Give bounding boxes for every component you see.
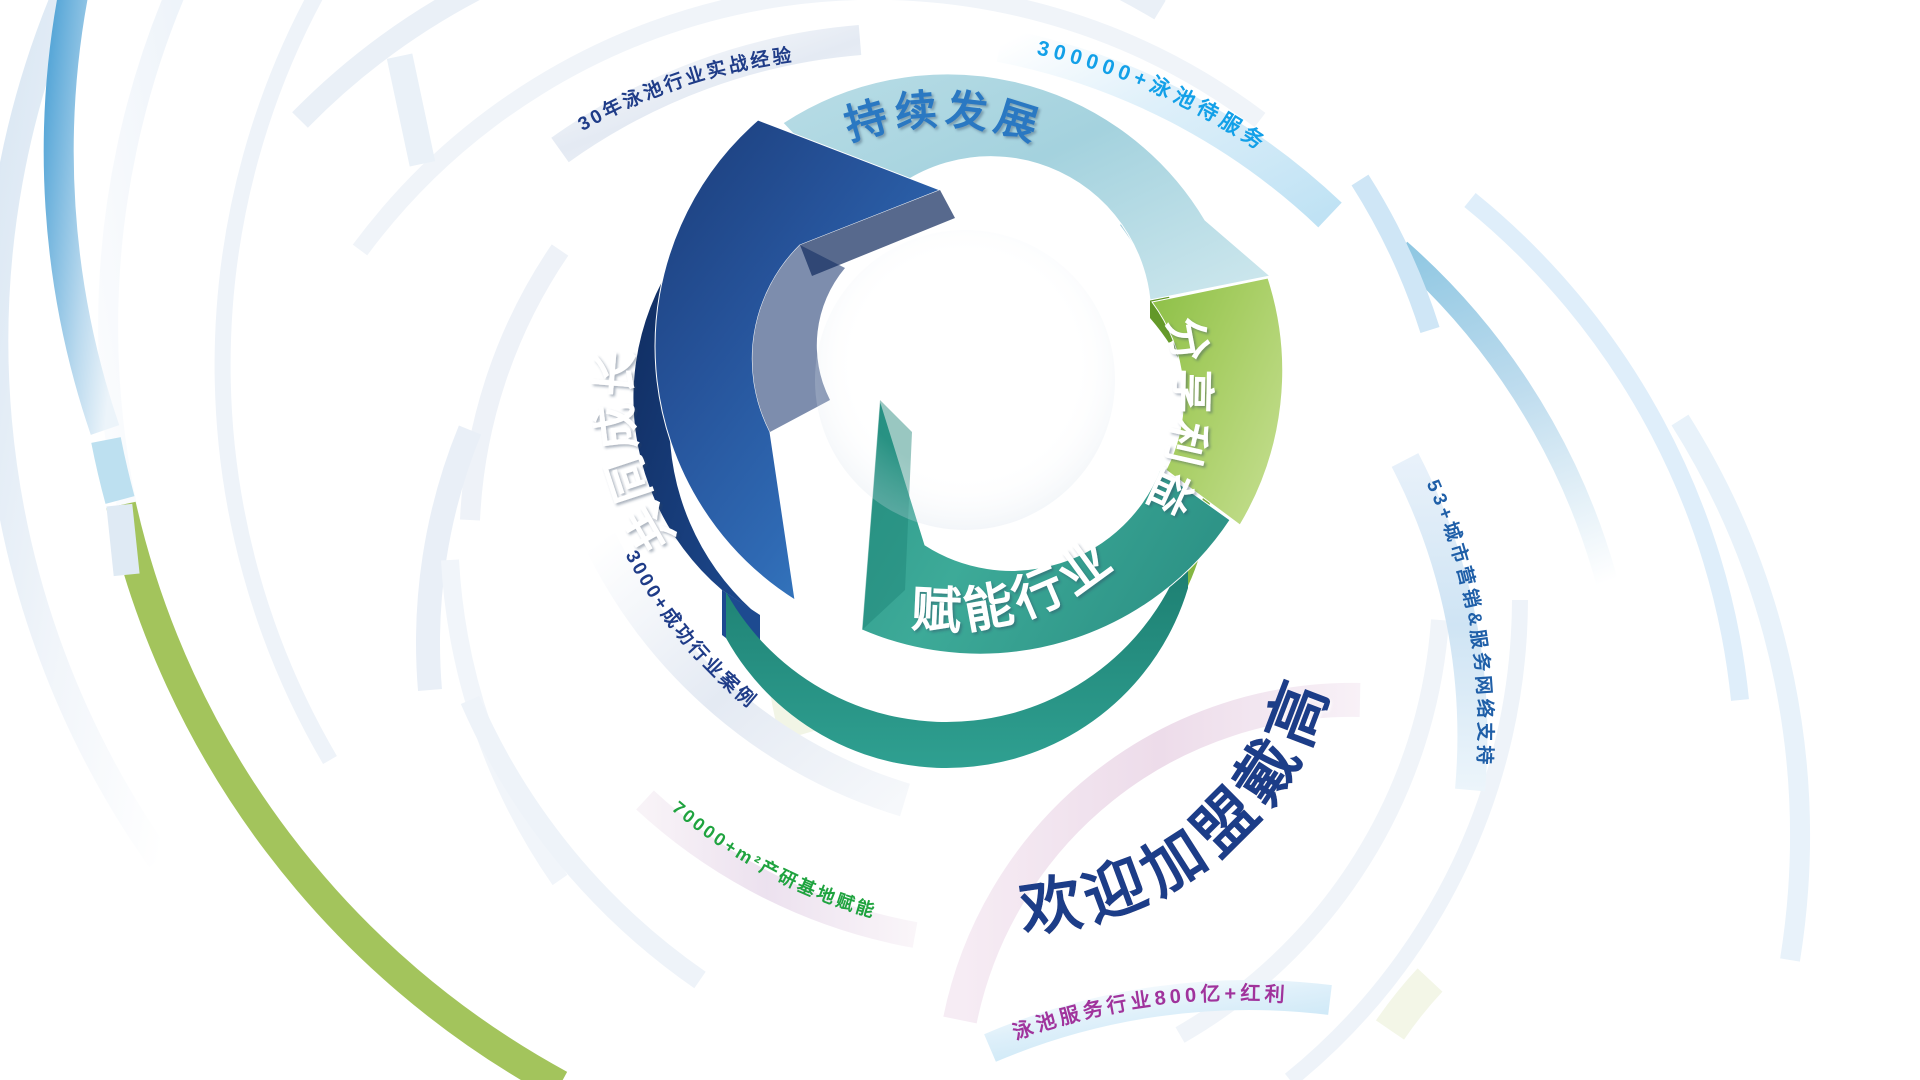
arc-right	[1360, 180, 1800, 960]
infographic-canvas: 共同成长 持续发展 分享利益 赋能行业 30年泳池行业实战经验 300000+泳…	[0, 0, 1920, 1080]
infographic-artwork: 共同成长 持续发展 分享利益 赋能行业 30年泳池行业实战经验 300000+泳…	[0, 0, 1920, 1080]
donut-inner-hole	[815, 230, 1115, 530]
